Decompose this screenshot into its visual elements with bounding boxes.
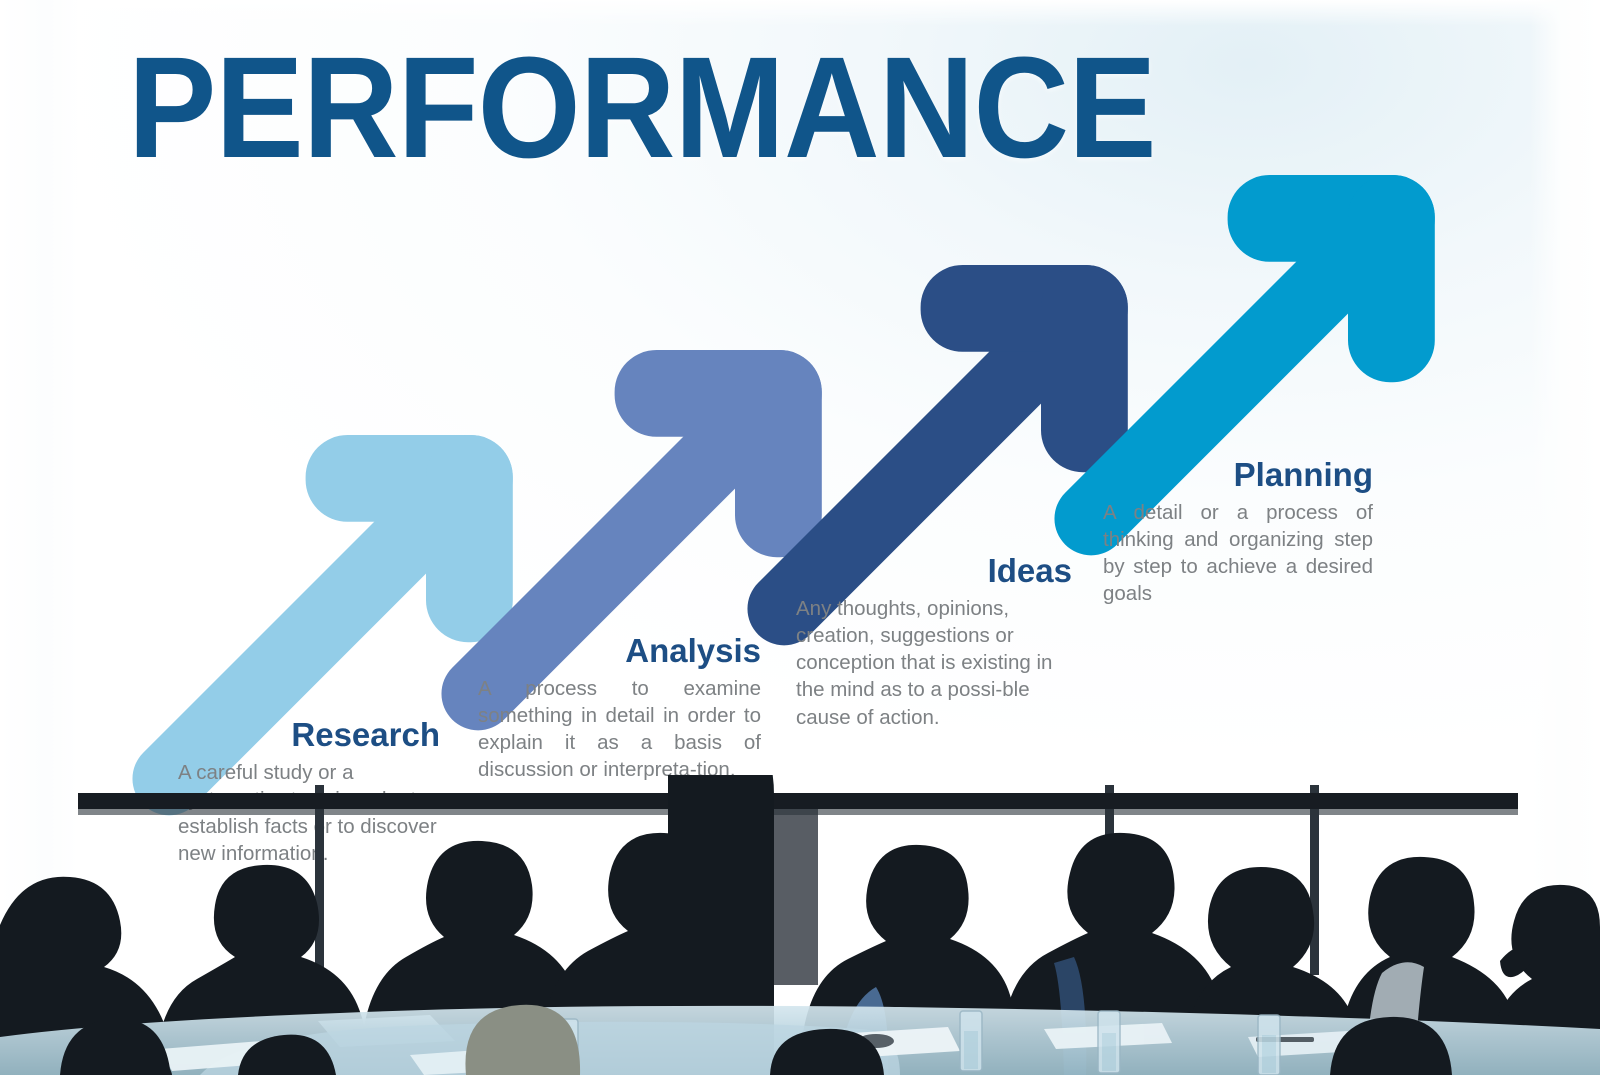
step-planning-label: Planning xyxy=(1103,458,1373,493)
slide-stage: PERFORMANCE xyxy=(0,0,1600,1075)
water-glass xyxy=(960,1011,982,1071)
step-analysis: Analysis A process to examine something … xyxy=(478,634,761,784)
meeting-foreground xyxy=(0,840,1600,1075)
step-planning-description: A detail or a process of thinking and or… xyxy=(1103,499,1373,608)
railing-shadow xyxy=(78,809,1518,815)
step-planning: Planning A detail or a process of thinki… xyxy=(1103,458,1373,608)
silhouette-group xyxy=(0,775,1600,1075)
water-glass xyxy=(1098,1011,1120,1073)
step-analysis-description: A process to examine something in detail… xyxy=(478,675,761,784)
step-research-label: Research xyxy=(178,718,440,753)
step-ideas-description: Any thoughts, opinions, creation, sugges… xyxy=(796,595,1072,731)
step-analysis-label: Analysis xyxy=(478,634,761,669)
railing-bar xyxy=(78,793,1518,809)
water-glass xyxy=(1258,1015,1280,1075)
step-ideas-label: Ideas xyxy=(796,554,1072,589)
step-ideas: Ideas Any thoughts, opinions, creation, … xyxy=(796,554,1072,731)
